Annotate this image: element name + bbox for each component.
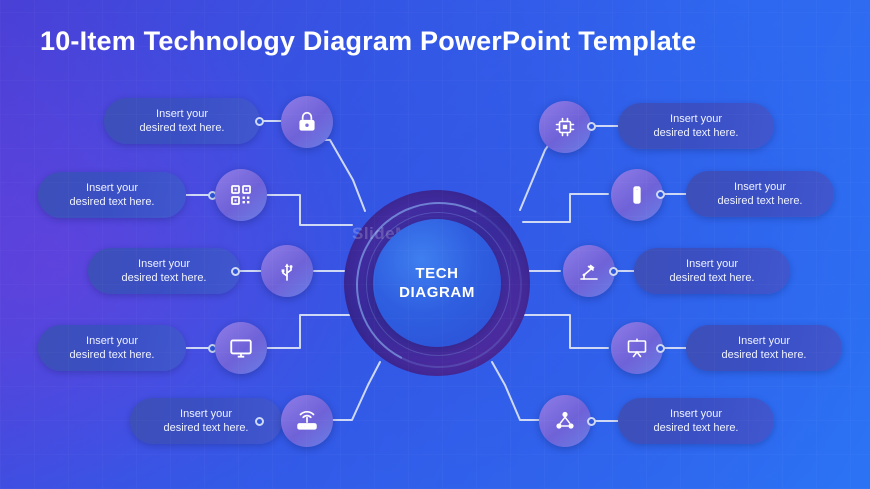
label-text-chip: Insert your desired text here.	[654, 112, 739, 140]
connector-dot-lock	[255, 117, 264, 126]
label-box-network[interactable]: Insert your desired text here.	[618, 398, 774, 444]
label-text-board: Insert your desired text here.	[722, 334, 807, 362]
label-box-qrcode[interactable]: Insert your desired text here.	[38, 172, 186, 218]
label-text-lock: Insert your desired text here.	[140, 107, 225, 135]
connector-dot-chip	[587, 122, 596, 131]
hub-title-line1: TECH	[415, 264, 458, 283]
label-text-router: Insert your desired text here.	[164, 407, 249, 435]
label-text-robotarm: Insert your desired text here.	[670, 257, 755, 285]
connector-dot-usb	[231, 267, 240, 276]
connector-dot-router	[255, 417, 264, 426]
connector-dot-network	[587, 417, 596, 426]
connector-dot-remote	[656, 190, 665, 199]
label-box-chip[interactable]: Insert your desired text here.	[618, 103, 774, 149]
label-box-board[interactable]: Insert your desired text here.	[686, 325, 842, 371]
label-box-remote[interactable]: Insert your desired text here.	[686, 171, 834, 217]
label-box-robotarm[interactable]: Insert your desired text here.	[634, 248, 790, 294]
cpu-chip-icon[interactable]	[539, 101, 591, 153]
robot-arm-icon[interactable]	[563, 245, 615, 297]
label-text-usb: Insert your desired text here.	[122, 257, 207, 285]
usb-icon[interactable]	[261, 245, 313, 297]
label-box-usb[interactable]: Insert your desired text here.	[88, 248, 240, 294]
padlock-icon[interactable]	[281, 96, 333, 148]
hub-title-line2: DIAGRAM	[399, 283, 475, 302]
page-title: 10-Item Technology Diagram PowerPoint Te…	[40, 26, 696, 57]
slide-canvas: 10-Item Technology Diagram PowerPoint Te…	[0, 0, 870, 489]
wifi-router-icon[interactable]	[281, 395, 333, 447]
label-text-remote: Insert your desired text here.	[718, 180, 803, 208]
label-text-monitor: Insert your desired text here.	[70, 334, 155, 362]
label-text-qrcode: Insert your desired text here.	[70, 181, 155, 209]
network-nodes-icon[interactable]	[539, 395, 591, 447]
label-box-lock[interactable]: Insert your desired text here.	[104, 98, 260, 144]
label-text-network: Insert your desired text here.	[654, 407, 739, 435]
label-box-monitor[interactable]: Insert your desired text here.	[38, 325, 186, 371]
connector-dot-board	[656, 344, 665, 353]
connector-dot-robotarm	[609, 267, 618, 276]
qr-code-icon[interactable]	[215, 169, 267, 221]
hub-center: TECH DIAGRAM	[373, 219, 501, 347]
monitor-icon[interactable]	[215, 322, 267, 374]
